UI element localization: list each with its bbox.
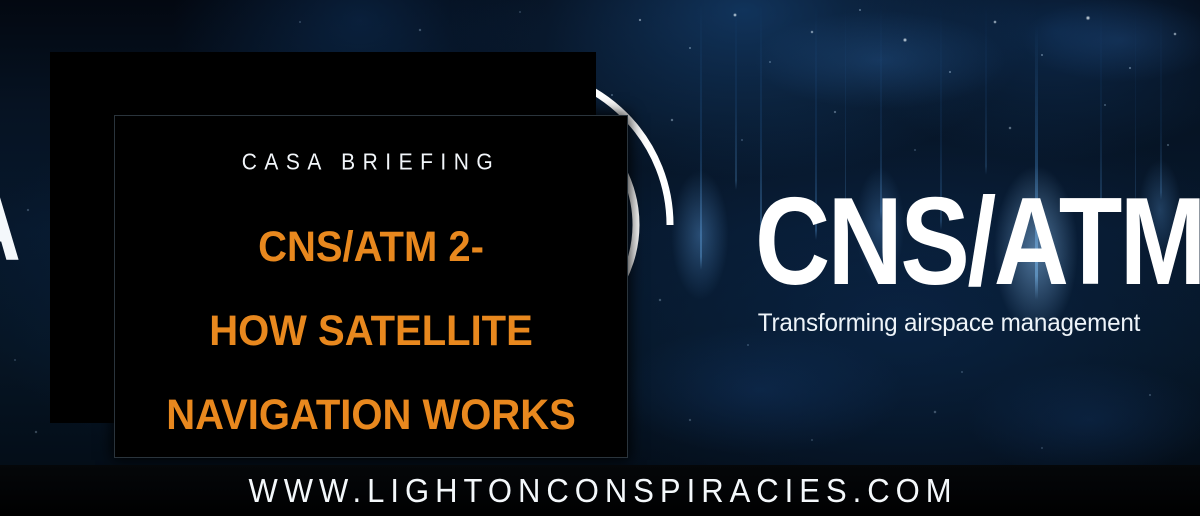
briefing-card-frame: CASA BRIEFING CNS/ATM 2- HOW SATELLITE N… xyxy=(50,52,596,423)
briefing-headline: CNS/ATM 2- HOW SATELLITE NAVIGATION WORK… xyxy=(114,205,628,457)
briefing-eyebrow: CASA BRIEFING xyxy=(242,150,501,177)
logo-tagline: Transforming airspace management xyxy=(725,311,1173,336)
headline-line-3: NAVIGATION WORKS xyxy=(132,373,610,457)
logo-wordmark: CNS/ATM xyxy=(755,188,1143,297)
banner-canvas: S/A airspa CNS/AT xyxy=(0,0,1200,516)
briefing-card-panel: CASA BRIEFING CNS/ATM 2- HOW SATELLITE N… xyxy=(114,115,628,458)
briefing-card-content: CASA BRIEFING CNS/ATM 2- HOW SATELLITE N… xyxy=(114,115,628,458)
headline-line-2: HOW SATELLITE xyxy=(132,289,610,373)
headline-line-1: CNS/ATM 2- xyxy=(132,205,610,289)
footer-url[interactable]: WWW.LIGHTONCONSPIRACIES.COM xyxy=(242,471,957,510)
cns-atm-logo: CNS/ATM Transforming airspace management xyxy=(718,188,1180,336)
footer-url-band: WWW.LIGHTONCONSPIRACIES.COM xyxy=(0,465,1200,516)
